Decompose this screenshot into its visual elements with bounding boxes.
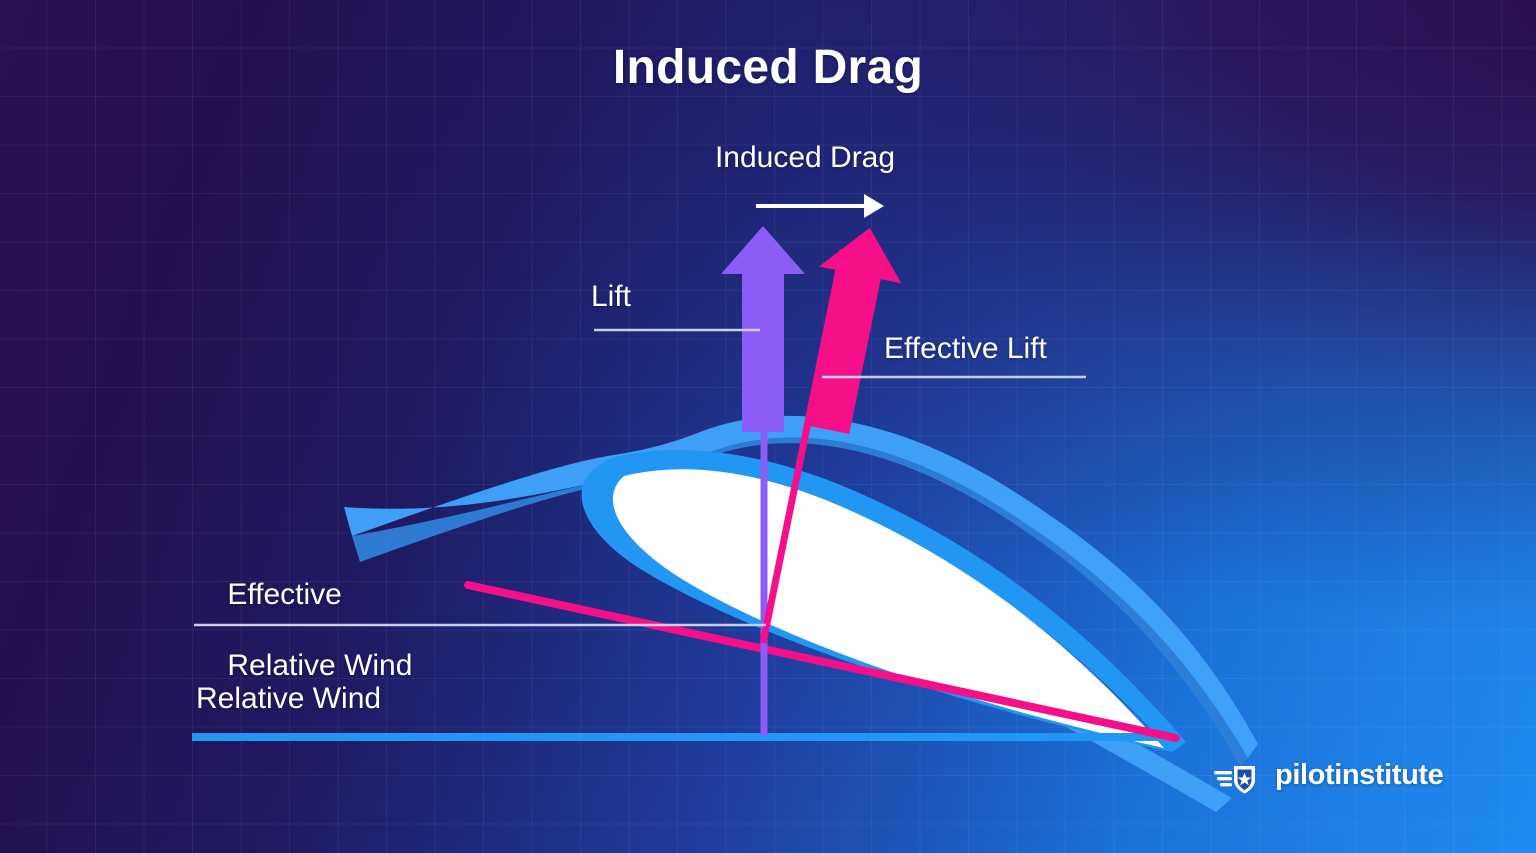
page-title: Induced Drag: [0, 40, 1536, 97]
logo-wordmark: pilotinstitute: [1275, 759, 1443, 792]
effective-relative-wind-label-line2: Relative Wind: [227, 649, 412, 682]
induced-drag-arrow: [756, 194, 884, 218]
lift-label: Lift: [591, 279, 631, 314]
relative-wind-label: Relative Wind: [196, 681, 381, 716]
effective-relative-wind-label-line1: Effective: [227, 578, 342, 611]
induced-drag-label: Induced Drag: [0, 140, 1536, 175]
logo-mark-spacer: [1212, 758, 1264, 792]
diagram-graphics: [0, 0, 1536, 853]
airfoil: [582, 450, 1186, 752]
effective-lift-label: Effective Lift: [884, 331, 1047, 366]
pilotinstitute-logo: pilotinstitute: [1212, 758, 1443, 792]
effective-lift-arrow: [788, 220, 911, 439]
induced-drag-diagram: Induced Drag Induced Drag Lift Effective…: [0, 0, 1536, 853]
